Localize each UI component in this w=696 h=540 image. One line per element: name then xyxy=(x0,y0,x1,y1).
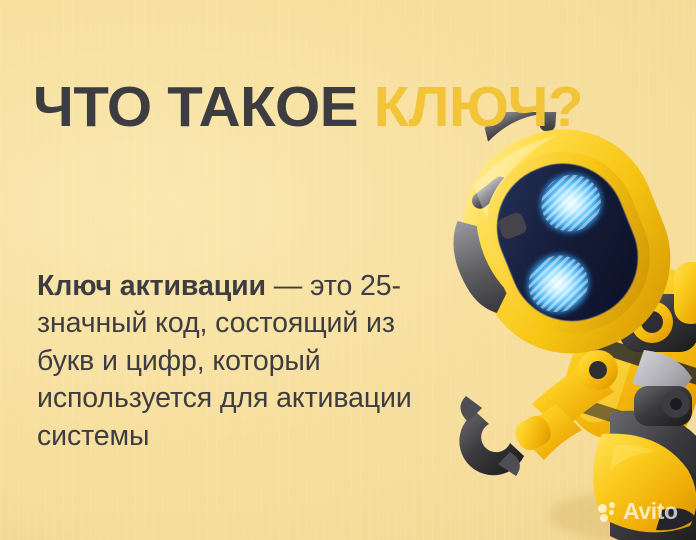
page-title: ЧТО ТАКОЕ КЛЮЧ? xyxy=(33,78,686,136)
avito-wordmark: Avito xyxy=(623,500,678,523)
headline-accent: КЛЮЧ? xyxy=(374,75,583,139)
description-text: Ключ активации — это 25-значный код, сос… xyxy=(37,268,437,456)
avito-dots-icon xyxy=(598,502,618,522)
description-lead: Ключ активации xyxy=(37,270,266,302)
headline-dark: ЧТО ТАКОЕ xyxy=(33,75,358,139)
promo-banner: ЧТО ТАКОЕ КЛЮЧ? Ключ активации — это 25-… xyxy=(0,0,696,540)
avito-watermark: Avito xyxy=(598,500,678,523)
